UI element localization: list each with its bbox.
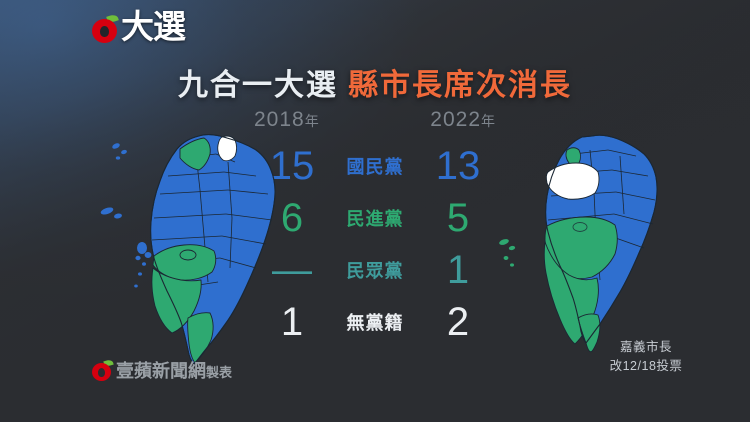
page-title: 九合一大選縣市長席次消長 [0, 60, 750, 104]
watermark-text: 壹蘋新聞網製表 [116, 362, 232, 380]
watermark-suffix: 製表 [206, 365, 232, 380]
tpp-seats-2022: 1 [416, 250, 500, 290]
party-label-tpp: 民眾黨 [334, 257, 416, 283]
table-row: 6 民進黨 5 [250, 192, 500, 244]
party-label-kmt: 國民黨 [334, 153, 416, 179]
watermark-apple-icon [92, 360, 113, 381]
apple-bite-icon [100, 26, 109, 37]
apple-icon [92, 15, 119, 42]
party-label-independent: 無黨籍 [334, 309, 416, 335]
footnote: 嘉義市長 改12/18投票 [566, 338, 726, 377]
title-main: 九合一大選 [178, 69, 338, 102]
table-row: 15 國民黨 13 [250, 140, 500, 192]
kmt-seats-2022: 13 [416, 146, 500, 186]
year-right-suffix: 年 [481, 113, 496, 129]
footnote-line-2: 改12/18投票 [566, 357, 726, 376]
table-row: 1 無黨籍 2 [250, 296, 500, 348]
taiwan-map-2022 [496, 130, 676, 365]
watermark-brand: 壹蘋新聞網 [116, 361, 206, 381]
independent-seats-2022: 2 [416, 302, 500, 342]
year-header-row: 2018年 2022年 [250, 108, 500, 132]
logo-wordmark: 大選 [121, 10, 185, 43]
watermark-apple-bite-icon [98, 368, 105, 377]
year-label-2022: 2022年 [430, 108, 496, 132]
taiwan-map-2018 [96, 128, 286, 373]
seat-rows: 15 國民黨 13 6 民進黨 5 — 民眾黨 1 1 無黨籍 2 [250, 140, 500, 348]
watermark: 壹蘋新聞網製表 [92, 360, 232, 381]
year-right-value: 2022 [430, 108, 481, 131]
seat-comparison-table: 2018年 2022年 15 國民黨 13 6 民進黨 5 — 民眾黨 1 1 … [250, 108, 500, 348]
offshore-islands-2022 [498, 238, 515, 267]
footnote-line-1: 嘉義市長 [566, 338, 726, 357]
table-row: — 民眾黨 1 [250, 244, 500, 296]
infographic-canvas: 大選 九合一大選縣市長席次消長 2018年 2022年 15 國民黨 13 6 … [0, 0, 750, 422]
year-left-suffix: 年 [305, 113, 320, 129]
dpp-seats-2022: 5 [416, 198, 500, 238]
party-label-dpp: 民進黨 [334, 205, 416, 231]
title-highlight: 縣市長席次消長 [348, 69, 572, 102]
offshore-islands-2018 [100, 142, 152, 287]
brand-logo: 大選 [92, 10, 185, 43]
